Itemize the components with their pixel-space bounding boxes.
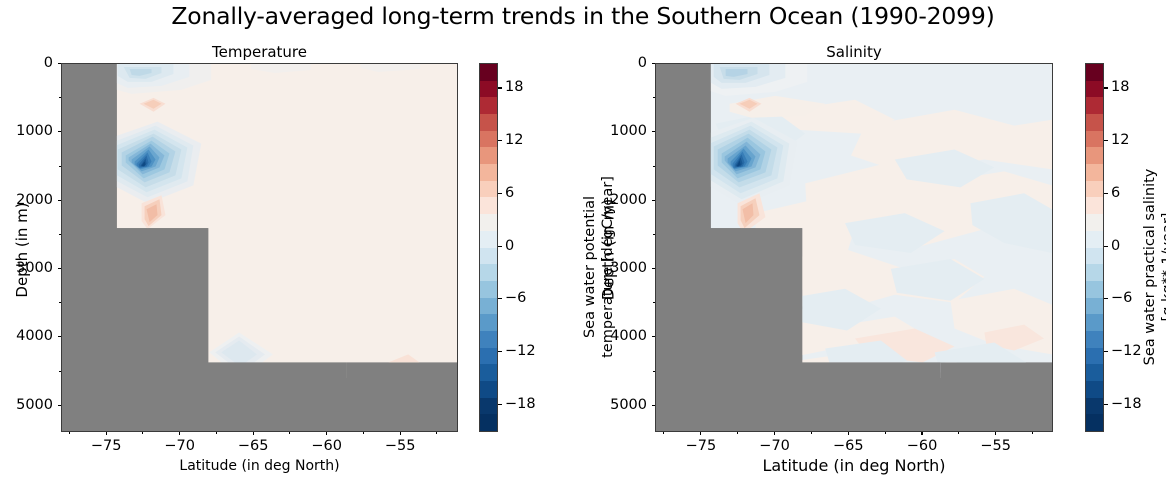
colorbar-tick <box>498 351 502 352</box>
colorbar-tick <box>1104 87 1108 88</box>
colorbar-label-line1: Sea water practical salinity <box>1141 122 1159 412</box>
x-tick <box>253 432 254 435</box>
x-tick <box>921 432 922 435</box>
colorbar-band <box>1086 81 1103 99</box>
salinity-colorbar[interactable] <box>1085 63 1104 432</box>
colorbar-tick-label: 12 <box>1111 132 1129 148</box>
colorbar-band <box>1086 147 1103 165</box>
y-minor-tick <box>653 302 655 303</box>
x-tick <box>700 432 701 435</box>
colorbar-band <box>1086 114 1103 132</box>
colorbar-band <box>480 131 497 149</box>
salinity-colorbar-label: Sea water practical salinity [g kg**-1/y… <box>1141 122 1166 412</box>
colorbar-band <box>480 331 497 349</box>
colorbar-label-line2: [g kg**-1/year] <box>1159 122 1166 412</box>
x-minor-tick <box>811 432 812 434</box>
colorbar-band <box>480 314 497 332</box>
colorbar-band <box>1086 248 1103 266</box>
colorbar-band <box>1086 381 1103 399</box>
x-tick <box>400 432 401 435</box>
colorbar-band <box>480 197 497 215</box>
x-tick-label: −65 <box>238 438 269 454</box>
colorbar-band <box>480 81 497 99</box>
y-minor-tick <box>59 166 61 167</box>
colorbar-tick-label: 12 <box>505 132 523 148</box>
x-minor-tick <box>142 432 143 434</box>
y-minor-tick <box>653 234 655 235</box>
y-tick <box>652 63 655 64</box>
colorbar-tick <box>1104 351 1108 352</box>
colorbar-tick <box>1104 140 1108 141</box>
x-minor-tick <box>1032 432 1033 434</box>
colorbar-band <box>1086 164 1103 182</box>
x-tick-label: −70 <box>164 438 195 454</box>
colorbar-band <box>1086 364 1103 382</box>
x-minor-tick <box>737 432 738 434</box>
colorbar-band <box>1086 264 1103 282</box>
colorbar-tick-label: 6 <box>1111 185 1120 201</box>
y-tick <box>58 131 61 132</box>
colorbar-tick-label: −6 <box>505 290 526 306</box>
colorbar-band <box>480 64 497 82</box>
x-minor-tick <box>436 432 437 434</box>
colorbar-band <box>1086 414 1103 432</box>
x-tick <box>848 432 849 435</box>
x-minor-tick <box>69 432 70 434</box>
x-minor-tick <box>289 432 290 434</box>
colorbar-band <box>1086 314 1103 332</box>
colorbar-band <box>480 348 497 366</box>
temperature-contour-field <box>62 64 457 431</box>
x-tick <box>179 432 180 435</box>
colorbar-tick <box>498 193 502 194</box>
colorbar-band <box>480 147 497 165</box>
colorbar-tick-label: −6 <box>1111 290 1132 306</box>
x-minor-tick <box>885 432 886 434</box>
salinity-contour-field <box>656 64 1052 431</box>
x-tick-label: −55 <box>980 438 1011 454</box>
y-tick-label: 4000 <box>0 328 53 344</box>
y-tick-label: 0 <box>0 55 53 71</box>
colorbar-band <box>1086 131 1103 149</box>
colorbar-tick-label: −18 <box>1111 396 1142 412</box>
x-tick-label: −60 <box>311 438 342 454</box>
salinity-panel-title: Salinity <box>655 43 1053 61</box>
salinity-x-axis-label: Latitude (in deg North) <box>655 456 1053 475</box>
x-minor-tick <box>363 432 364 434</box>
figure-canvas: Zonally-averaged long-term trends in the… <box>0 0 1166 482</box>
colorbar-band <box>1086 64 1103 82</box>
colorbar-tick-label: 0 <box>505 238 514 254</box>
y-tick-label: 1000 <box>0 123 53 139</box>
x-tick-label: −65 <box>833 438 864 454</box>
x-tick <box>995 432 996 435</box>
temperature-panel-title: Temperature <box>61 43 458 61</box>
colorbar-tick <box>1104 298 1108 299</box>
y-tick-label: 5000 <box>0 397 53 413</box>
y-tick <box>58 63 61 64</box>
colorbar-tick <box>498 140 502 141</box>
y-minor-tick <box>59 234 61 235</box>
x-minor-tick <box>663 432 664 434</box>
temperature-y-axis-label: Depth (in m) <box>13 190 31 310</box>
x-tick <box>326 432 327 435</box>
y-minor-tick <box>59 302 61 303</box>
y-tick <box>58 268 61 269</box>
colorbar-band <box>1086 281 1103 299</box>
salinity-y-axis-label: Depth (in m) <box>599 185 618 315</box>
colorbar-band <box>1086 298 1103 316</box>
colorbar-band <box>1086 231 1103 249</box>
colorbar-band <box>480 164 497 182</box>
figure-suptitle: Zonally-averaged long-term trends in the… <box>0 2 1166 30</box>
x-tick <box>106 432 107 435</box>
colorbar-band <box>1086 398 1103 416</box>
x-tick <box>774 432 775 435</box>
colorbar-tick <box>1104 404 1108 405</box>
colorbar-tick <box>498 246 502 247</box>
y-tick-label: 0 <box>594 55 647 71</box>
colorbar-tick-label: −12 <box>505 343 536 359</box>
colorbar-band <box>480 398 497 416</box>
colorbar-band <box>480 248 497 266</box>
y-minor-tick <box>59 97 61 98</box>
temperature-plot-area[interactable] <box>61 63 458 432</box>
colorbar-band <box>1086 214 1103 232</box>
colorbar-tick-label: 6 <box>505 185 514 201</box>
x-tick-label: −70 <box>759 438 790 454</box>
y-tick <box>652 131 655 132</box>
colorbar-tick <box>1104 246 1108 247</box>
colorbar-band <box>480 181 497 199</box>
colorbar-band <box>480 264 497 282</box>
x-minor-tick <box>958 432 959 434</box>
y-minor-tick <box>653 97 655 98</box>
y-minor-tick <box>653 371 655 372</box>
y-minor-tick <box>653 166 655 167</box>
colorbar-band <box>1086 97 1103 115</box>
temperature-x-axis-label: Latitude (in deg North) <box>61 458 458 474</box>
colorbar-band <box>480 114 497 132</box>
y-tick <box>652 200 655 201</box>
colorbar-tick-label: −12 <box>1111 343 1142 359</box>
colorbar-tick <box>498 404 502 405</box>
x-tick-label: −75 <box>686 438 717 454</box>
colorbar-band <box>480 97 497 115</box>
colorbar-band <box>1086 181 1103 199</box>
colorbar-band <box>480 298 497 316</box>
colorbar-tick <box>498 87 502 88</box>
y-tick <box>652 405 655 406</box>
salinity-plot-area[interactable] <box>655 63 1053 432</box>
colorbar-tick-label: −18 <box>505 396 536 412</box>
y-tick <box>58 405 61 406</box>
y-tick <box>58 336 61 337</box>
y-tick-label: 4000 <box>594 328 647 344</box>
x-tick-label: −60 <box>907 438 938 454</box>
colorbar-band <box>1086 331 1103 349</box>
colorbar-tick-label: 18 <box>1111 79 1129 95</box>
colorbar-tick-label: 18 <box>505 79 523 95</box>
x-tick-label: −75 <box>91 438 122 454</box>
colorbar-band <box>1086 348 1103 366</box>
colorbar-tick-label: 0 <box>1111 238 1120 254</box>
colorbar-band <box>480 381 497 399</box>
y-tick <box>652 268 655 269</box>
colorbar-tick <box>498 298 502 299</box>
x-tick-label: −55 <box>385 438 416 454</box>
colorbar-band <box>480 364 497 382</box>
colorbar-band <box>480 281 497 299</box>
y-minor-tick <box>59 371 61 372</box>
y-tick <box>58 200 61 201</box>
y-tick-label: 1000 <box>594 123 647 139</box>
temperature-colorbar[interactable] <box>479 63 498 432</box>
colorbar-band <box>480 214 497 232</box>
colorbar-tick <box>1104 193 1108 194</box>
x-minor-tick <box>216 432 217 434</box>
y-tick-label: 5000 <box>594 397 647 413</box>
colorbar-band <box>480 414 497 432</box>
colorbar-band <box>480 231 497 249</box>
y-tick <box>652 336 655 337</box>
colorbar-band <box>1086 197 1103 215</box>
